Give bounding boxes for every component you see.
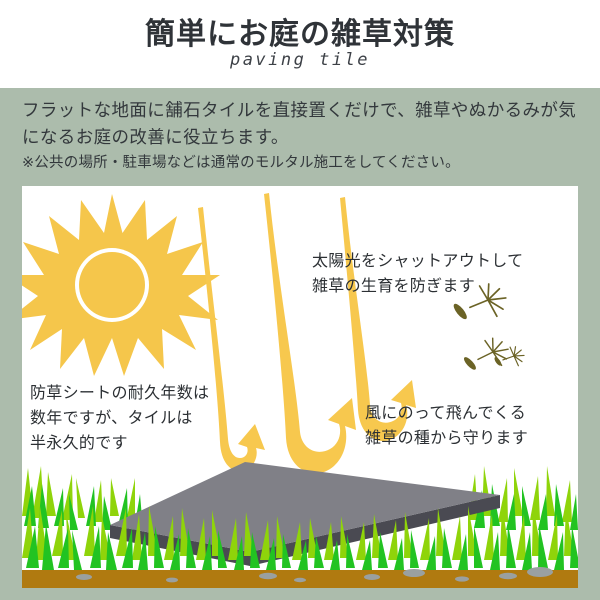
label-seed-protection: 風にのって飛んでくる 雑草の種から守ります — [365, 400, 528, 450]
intro-note-text: ※公共の場所・駐車場などは通常のモルタル施工をしてください。 — [22, 152, 582, 174]
sun-icon — [22, 194, 220, 376]
soil-band — [22, 567, 578, 588]
header: 簡単にお庭の雑草対策 paving tile — [0, 0, 600, 88]
poster-root: 簡単にお庭の雑草対策 paving tile フラットな地面に舗石タイルを直接置… — [0, 0, 600, 600]
page-title: 簡単にお庭の雑草対策 — [0, 9, 600, 53]
intro-lead-text: フラットな地面に舗石タイルを直接置くだけで、雑草やぬかるみが気になるお庭の改善に… — [22, 98, 582, 152]
page-subtitle: paving tile — [0, 50, 600, 70]
illustration-panel: 太陽光をシャットアウトして 雑草の生育を防ぎます 防草シートの耐久年数は 数年で… — [22, 186, 578, 588]
label-sunlight: 太陽光をシャットアウトして 雑草の生育を防ぎます — [312, 248, 523, 298]
label-sheet-durability: 防草シートの耐久年数は 数年ですが、タイルは 半永久的です — [30, 380, 209, 455]
